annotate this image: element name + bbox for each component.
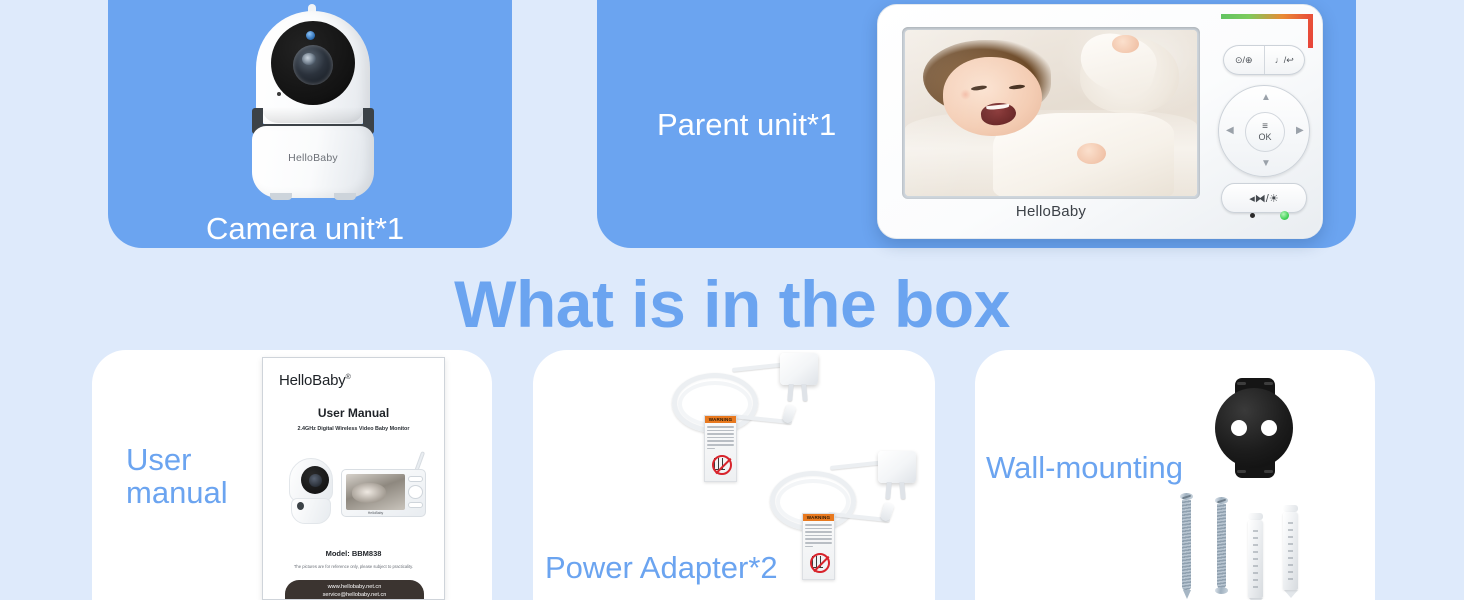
manual-model-number: Model: BBM838 <box>263 549 444 558</box>
parent-unit-label: Parent unit*1 <box>657 108 836 141</box>
manual-brand-text: HelloBaby <box>279 372 346 389</box>
manual-subtitle: 2.4GHz Digital Wireless Video Baby Monit… <box>263 426 444 432</box>
parent-unit-image: ⊙/⊕ ♩/↩ ▲ ▼ ◀ ▶ ≡ OK ◂⧓/☀ HelloBaby <box>877 4 1323 239</box>
adapter-warning-tag: WARNING <box>802 513 835 580</box>
manual-monitor-button-bottom <box>408 502 423 508</box>
parent-unit-dpad[interactable]: ▲ ▼ ◀ ▶ ≡ OK <box>1218 85 1310 177</box>
screw-tip <box>1215 587 1228 594</box>
prohibition-icon <box>712 455 732 475</box>
strangulation-hazard-icon <box>809 552 831 574</box>
adapter-prong-left-icon <box>885 482 891 499</box>
camera-brand-label: HelloBaby <box>240 152 386 164</box>
manual-email: service@hellobaby.net.cn <box>323 592 387 598</box>
warning-tag-text-lines <box>705 423 736 449</box>
adapter-prong-right-icon <box>899 482 905 499</box>
warning-tag-header: WARNING <box>705 416 736 423</box>
arrow-left-icon[interactable]: ◀ <box>1226 125 1234 136</box>
user-manual-cover-image: HelloBaby® User Manual 2.4GHz Digital Wi… <box>262 357 445 600</box>
wall-mount-bracket-image <box>1215 378 1293 478</box>
adapter-prong-right-icon <box>801 384 807 401</box>
talk-back-button[interactable]: ♩/↩ <box>1265 46 1305 74</box>
adapter-dc-tip-icon <box>781 404 796 424</box>
bracket-notch-bottom-right <box>1264 470 1273 473</box>
camera-unit-label: Camera unit*1 <box>206 212 404 245</box>
screw-tip <box>1183 590 1191 599</box>
parent-unit-screen-bezel <box>902 27 1200 199</box>
manual-monitor-dpad <box>408 485 423 499</box>
anchor-body <box>1283 512 1298 590</box>
manual-camera-illustration <box>285 458 337 524</box>
bracket-notch-bottom-left <box>1237 470 1246 473</box>
manual-monitor-illustration: HelloBaby <box>341 469 426 517</box>
arrow-down-icon[interactable]: ▼ <box>1261 158 1271 169</box>
adapter-brick <box>878 451 916 483</box>
screw-head <box>1180 493 1193 500</box>
camera-foot-left <box>270 193 292 200</box>
manual-brand-label: HelloBaby® <box>279 372 351 389</box>
camera-unit-image: HelloBaby <box>240 4 386 199</box>
manual-monitor-button-top <box>408 476 423 482</box>
manual-footer: www.hellobaby.net.cn service@hellobaby.n… <box>285 580 424 600</box>
ok-menu-button[interactable]: ≡ OK <box>1245 112 1285 152</box>
power-adapter-label: Power Adapter*2 <box>545 551 778 584</box>
manual-camera-body <box>291 498 331 524</box>
camera-lens-icon <box>293 45 333 85</box>
wall-mounting-label: Wall-mounting <box>986 451 1183 484</box>
adapter-prong-left-icon <box>787 384 793 401</box>
manual-website: www.hellobaby.net.cn <box>328 584 382 590</box>
arrow-right-icon[interactable]: ▶ <box>1296 125 1304 136</box>
screw-image-2 <box>1215 497 1228 594</box>
parent-unit-top-button-pair[interactable]: ⊙/⊕ ♩/↩ <box>1223 45 1305 75</box>
anchor-tip <box>1284 590 1298 598</box>
bracket-screw-hole-left <box>1231 420 1247 436</box>
camera-neck-shadow <box>262 107 364 123</box>
anchor-body <box>1248 520 1263 598</box>
camera-microphone-icon <box>277 92 281 96</box>
arrow-up-icon[interactable]: ▲ <box>1261 92 1271 103</box>
screw-head <box>1215 497 1228 504</box>
page-title: What is in the box <box>0 266 1464 342</box>
bracket-disc <box>1215 388 1293 468</box>
wall-anchor-image-2 <box>1283 505 1298 598</box>
power-led-icon <box>1250 213 1255 218</box>
adapter-warning-tag: WARNING <box>704 415 737 482</box>
user-manual-label: User manual <box>126 443 228 510</box>
warning-tag-header: WARNING <box>803 514 834 521</box>
prohibition-icon <box>810 553 830 573</box>
strangulation-hazard-icon <box>711 454 733 476</box>
warning-tag-text-lines <box>803 521 834 547</box>
pan-zoom-button[interactable]: ⊙/⊕ <box>1224 46 1265 74</box>
bracket-notch-top-right <box>1264 382 1273 385</box>
camera-foot-right <box>334 193 356 200</box>
anchor-collar <box>1283 505 1298 512</box>
manual-title: User Manual <box>263 406 444 420</box>
volume-brightness-button[interactable]: ◂⧓/☀ <box>1221 183 1307 213</box>
bracket-screw-hole-right <box>1261 420 1277 436</box>
manual-camera-foot <box>297 502 304 510</box>
manual-camera-lens-icon <box>309 474 322 487</box>
manual-monitor-screen <box>346 474 405 510</box>
screw-image-1 <box>1180 493 1193 599</box>
adapter-dc-tip-icon <box>879 502 894 522</box>
parent-unit-brand-label: HelloBaby <box>902 203 1200 220</box>
what-is-in-the-box-infographic: HelloBaby Camera unit*1 Parent unit*1 <box>0 0 1464 600</box>
manual-monitor-brand: HelloBaby <box>346 511 405 515</box>
screw-shaft <box>1217 504 1226 588</box>
manual-monitor-buttons <box>408 476 423 511</box>
anchor-collar <box>1248 513 1263 520</box>
camera-status-led-icon <box>306 31 315 40</box>
manual-disclaimer: The pictures are for reference only, ple… <box>263 564 444 569</box>
adapter-brick <box>780 353 818 385</box>
charging-led-icon <box>1280 211 1289 220</box>
screen-glare <box>905 30 1197 196</box>
bracket-notch-top-left <box>1237 382 1246 385</box>
sound-level-indicator-icon <box>1221 14 1313 48</box>
registered-mark-icon: ® <box>346 374 351 381</box>
parent-unit-screen <box>905 30 1197 196</box>
power-adapter-image-2: WARNING <box>770 455 930 585</box>
wall-anchor-image-1 <box>1248 513 1263 600</box>
menu-icon: ≡ <box>1262 122 1268 132</box>
ok-label: OK <box>1258 133 1271 142</box>
screw-shaft <box>1182 500 1191 590</box>
